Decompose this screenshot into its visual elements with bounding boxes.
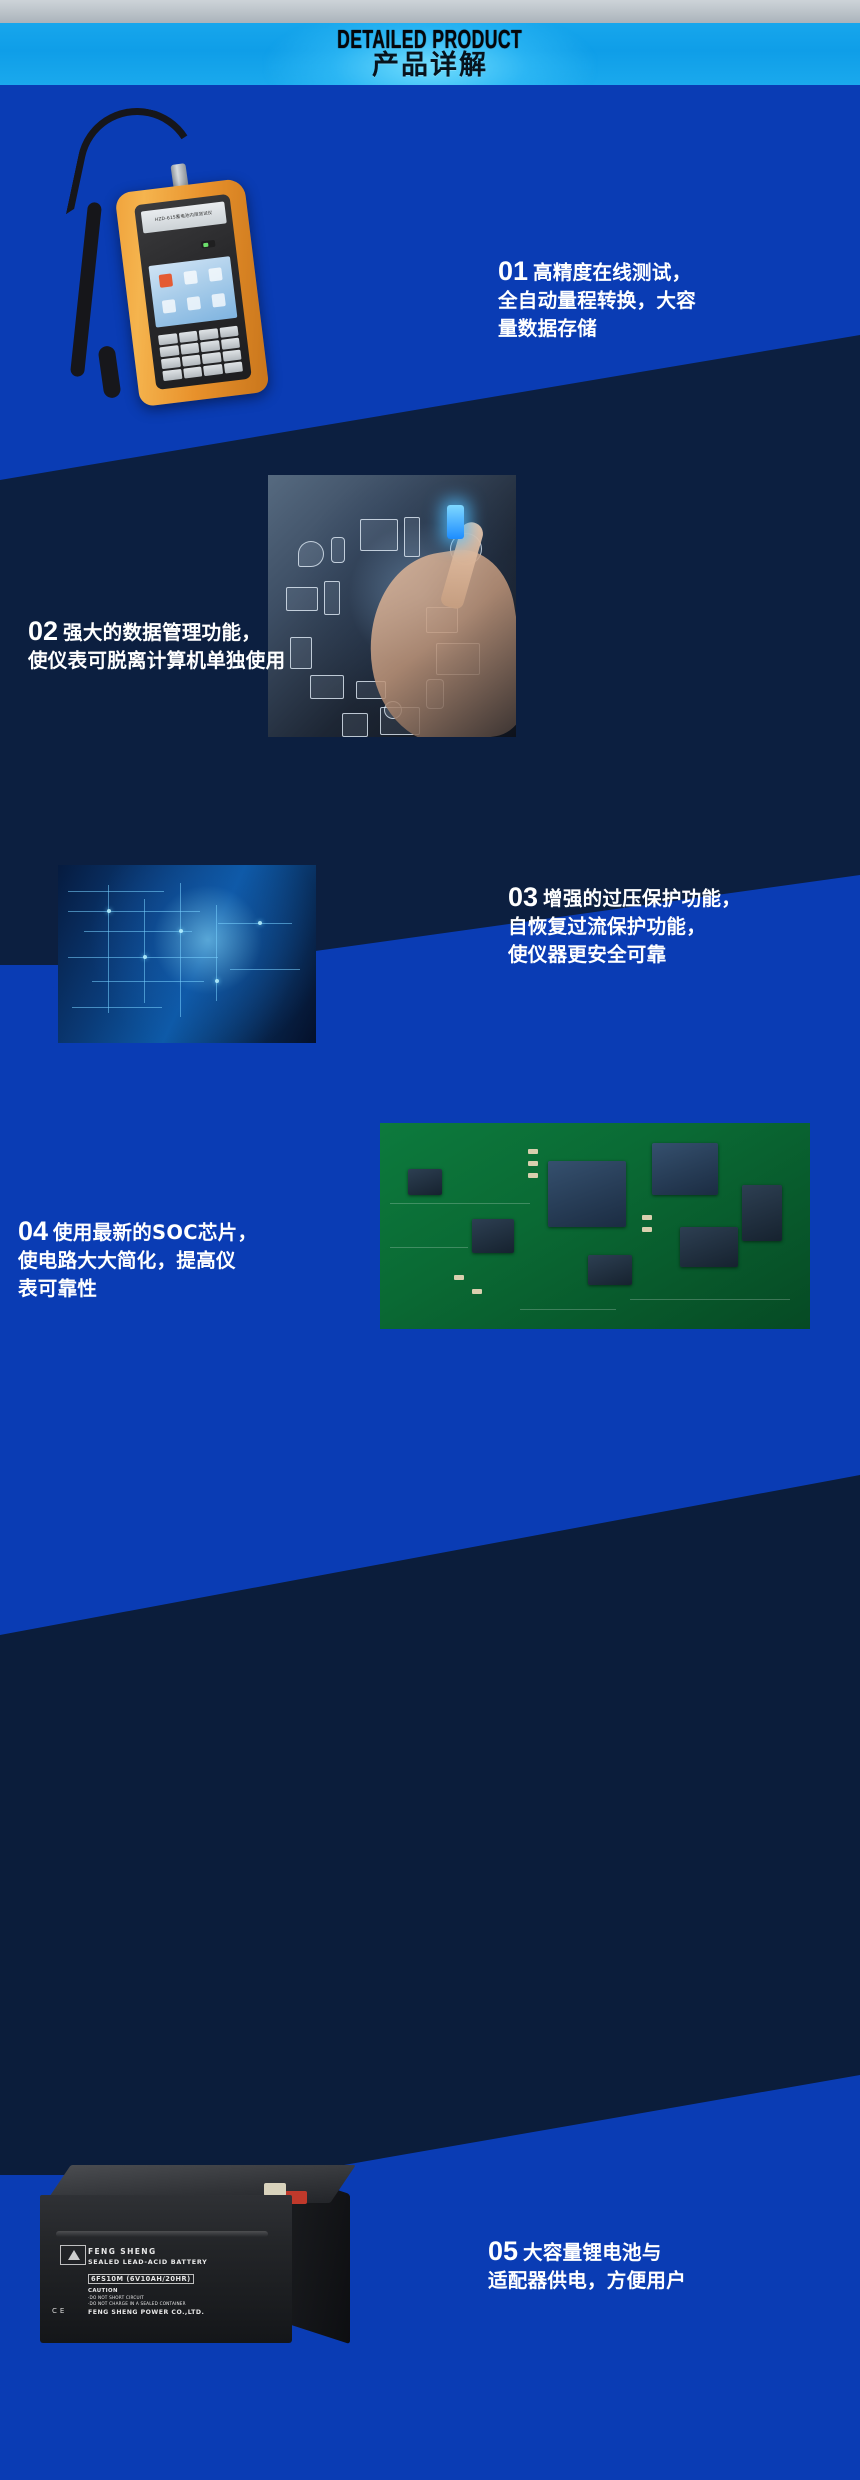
device-front-panel: HZD-615蓄电池内阻测试仪 <box>134 194 252 390</box>
feature-04-line-2: 使电路大大简化，提高仪 <box>18 1247 257 1275</box>
feature-01-line-3: 量数据存储 <box>498 315 696 343</box>
battery-model: 6FS10M (6V10AH/20HR) <box>88 2274 194 2284</box>
battery-caution-title: CAUTION <box>88 2288 268 2294</box>
device-photo: HZD-615蓄电池内阻测试仪 <box>55 110 315 410</box>
battery-label: FENG SHENG SEALED LEAD-ACID BATTERY 6FS1… <box>88 2247 268 2316</box>
device-body: HZD-615蓄电池内阻测试仪 <box>114 178 269 407</box>
battery-type: SEALED LEAD-ACID BATTERY <box>88 2258 268 2266</box>
feature-04-line-3: 表可靠性 <box>18 1275 257 1303</box>
feature-05-number: 05 <box>488 2236 518 2266</box>
battery-seam <box>56 2231 268 2237</box>
feature-01-line-2: 全自动量程转换，大容 <box>498 287 696 315</box>
feature-03-line-3: 使仪器更安全可靠 <box>508 941 741 969</box>
page-title-english: DETAILED PRODUCT <box>337 27 522 53</box>
feature-04-number: 04 <box>18 1216 48 1246</box>
feature-text-04: 04使用最新的SOC芯片， 使电路大大简化，提高仪 表可靠性 <box>18 1217 257 1303</box>
top-silver-strip <box>0 0 860 23</box>
device-led-indicator <box>201 240 216 249</box>
page-title-chinese: 产品详解 <box>372 52 488 79</box>
page-header-banner: DETAILED PRODUCT 产品详解 <box>0 23 860 85</box>
device-lcd-screen <box>148 256 237 328</box>
feature-03-line-1: 03增强的过压保护功能， <box>508 883 741 913</box>
device-keypad <box>158 326 243 381</box>
battery-brand: FENG SHENG <box>88 2247 268 2256</box>
battery-photo: FENG SHENG SEALED LEAD-ACID BATTERY 6FS1… <box>30 2165 360 2355</box>
feature-05-line-1: 05大容量锂电池与 <box>488 2237 686 2267</box>
battery-logo-icon <box>60 2245 86 2265</box>
circuit-board-photo <box>58 865 316 1043</box>
feature-02-line-1: 02强大的数据管理功能， <box>28 617 285 647</box>
touch-spark <box>447 505 464 539</box>
feature-text-01: 01高精度在线测试， 全自动量程转换，大容 量数据存储 <box>498 257 696 343</box>
battery-company: FENG SHENG POWER CO.,LTD. <box>88 2309 268 2316</box>
feature-text-05: 05大容量锂电池与 适配器供电，方便用户 <box>488 2237 686 2295</box>
feature-section-01: HZD-615蓄电池内阻测试仪 <box>0 85 860 415</box>
device-model-label: HZD-615蓄电池内阻测试仪 <box>141 201 227 233</box>
feature-02-line-2: 使仪表可脱离计算机单独使用 <box>28 647 285 675</box>
feature-03-number: 03 <box>508 882 538 912</box>
feature-01-number: 01 <box>498 256 528 286</box>
feature-02-number: 02 <box>28 616 58 646</box>
feature-section-03: 03增强的过压保护功能， 自恢复过流保护功能， 使仪器更安全可靠 <box>0 765 860 1115</box>
feature-05-line-2: 适配器供电，方便用户 <box>488 2267 686 2295</box>
battery-front: FENG SHENG SEALED LEAD-ACID BATTERY 6FS1… <box>40 2195 292 2343</box>
device-hand-strap <box>97 345 121 399</box>
product-detail-canvas: HZD-615蓄电池内阻测试仪 <box>0 85 860 2480</box>
feature-section-05: FENG SHENG SEALED LEAD-ACID BATTERY 6FS1… <box>0 1515 860 2480</box>
feature-section-02: 02强大的数据管理功能， 使仪表可脱离计算机单独使用 <box>0 415 860 765</box>
battery-caution-2: ·DO NOT CHARGE IN A SEALED CONTAINER <box>88 2301 268 2306</box>
battery-caution-1: ·DO NOT SHORT CIRCUIT <box>88 2295 268 2300</box>
feature-03-line-2: 自恢复过流保护功能， <box>508 913 741 941</box>
device-cable-tail <box>70 202 102 378</box>
feature-section-04: 04使用最新的SOC芯片， 使电路大大简化，提高仪 表可靠性 <box>0 1115 860 1515</box>
feature-01-line-1: 01高精度在线测试， <box>498 257 696 287</box>
green-pcb-photo <box>380 1123 810 1329</box>
feature-04-line-1: 04使用最新的SOC芯片， <box>18 1217 257 1247</box>
feature-text-03: 03增强的过压保护功能， 自恢复过流保护功能， 使仪器更安全可靠 <box>508 883 741 969</box>
feature-text-02: 02强大的数据管理功能， 使仪表可脱离计算机单独使用 <box>28 617 285 675</box>
network-photo <box>268 475 516 737</box>
battery-certification-marks: CE <box>52 2307 67 2315</box>
